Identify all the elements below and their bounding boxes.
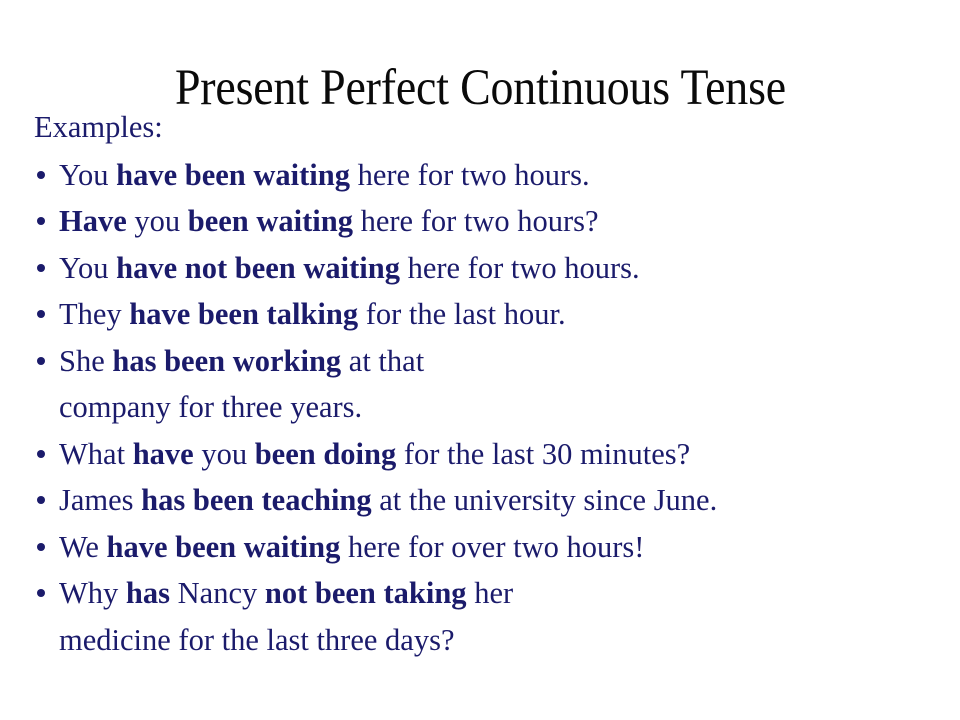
list-item: Have you been waiting here for two hours… (34, 198, 924, 245)
bullet-dot-icon (37, 171, 45, 179)
examples-bullet-list: You have been waiting here for two hours… (34, 152, 924, 664)
list-item-text: What have you been doing for the last 30… (59, 431, 924, 478)
bullet-dot-icon (37, 589, 45, 597)
verb-phrase-emphasis: not been taking (265, 576, 467, 610)
list-item-text: She has been working at that company for… (59, 338, 529, 431)
sentence-fragment: you (194, 437, 255, 471)
bullet-dot-icon (37, 217, 45, 225)
sentence-fragment: She (59, 344, 112, 378)
bullet-dot-icon (37, 264, 45, 272)
bullet-dot-icon (37, 357, 45, 365)
sentence-fragment: you (127, 204, 188, 238)
sentence-fragment: They (59, 297, 129, 331)
list-item: You have not been waiting here for two h… (34, 245, 924, 292)
sentence-fragment: Why (59, 576, 126, 610)
bullet-dot-icon (37, 310, 45, 318)
list-item-text: Why has Nancy not been taking her medici… (59, 570, 539, 663)
list-item-text: Have you been waiting here for two hours… (59, 198, 924, 245)
list-item-text: They have been talking for the last hour… (59, 291, 924, 338)
list-item-text: You have been waiting here for two hours… (59, 152, 924, 199)
list-item-text: You have not been waiting here for two h… (59, 245, 924, 292)
verb-phrase-emphasis: has (126, 576, 170, 610)
sentence-fragment: We (59, 530, 107, 564)
list-item: We have been waiting here for over two h… (34, 524, 924, 571)
verb-phrase-emphasis: Have (59, 204, 127, 238)
verb-phrase-emphasis: has been working (112, 344, 341, 378)
sentence-fragment: What (59, 437, 133, 471)
sentence-fragment: You (59, 158, 116, 192)
bullet-dot-icon (37, 496, 45, 504)
examples-label: Examples: (34, 104, 924, 151)
bullet-dot-icon (37, 450, 45, 458)
verb-phrase-emphasis: have been waiting (107, 530, 341, 564)
sentence-fragment: here for two hours. (350, 158, 590, 192)
verb-phrase-emphasis: have not been waiting (116, 251, 400, 285)
verb-phrase-emphasis: has been teaching (141, 483, 371, 517)
sentence-fragment: here for over two hours! (340, 530, 644, 564)
sentence-fragment: at the university since June. (372, 483, 718, 517)
list-item-text: We have been waiting here for over two h… (59, 524, 924, 571)
list-item: James has been teaching at the universit… (34, 477, 924, 524)
verb-phrase-emphasis: been waiting (188, 204, 353, 238)
list-item: What have you been doing for the last 30… (34, 431, 924, 478)
list-item: They have been talking for the last hour… (34, 291, 924, 338)
list-item: You have been waiting here for two hours… (34, 152, 924, 199)
sentence-fragment: You (59, 251, 116, 285)
bullet-dot-icon (37, 543, 45, 551)
verb-phrase-emphasis: have been talking (129, 297, 358, 331)
verb-phrase-emphasis: have (133, 437, 194, 471)
slide-body: Examples: You have been waiting here for… (34, 104, 924, 663)
slide-canvas: Present Perfect Continuous Tense Example… (0, 0, 960, 720)
list-item: She has been working at that company for… (34, 338, 924, 431)
list-item: Why has Nancy not been taking her medici… (34, 570, 924, 663)
sentence-fragment: here for two hours? (353, 204, 599, 238)
sentence-fragment: for the last hour. (358, 297, 566, 331)
sentence-fragment: here for two hours. (400, 251, 640, 285)
list-item-text: James has been teaching at the universit… (59, 477, 924, 524)
verb-phrase-emphasis: have been waiting (116, 158, 350, 192)
sentence-fragment: Nancy (170, 576, 265, 610)
sentence-fragment: for the last 30 minutes? (396, 437, 690, 471)
verb-phrase-emphasis: been doing (255, 437, 397, 471)
sentence-fragment: James (59, 483, 141, 517)
